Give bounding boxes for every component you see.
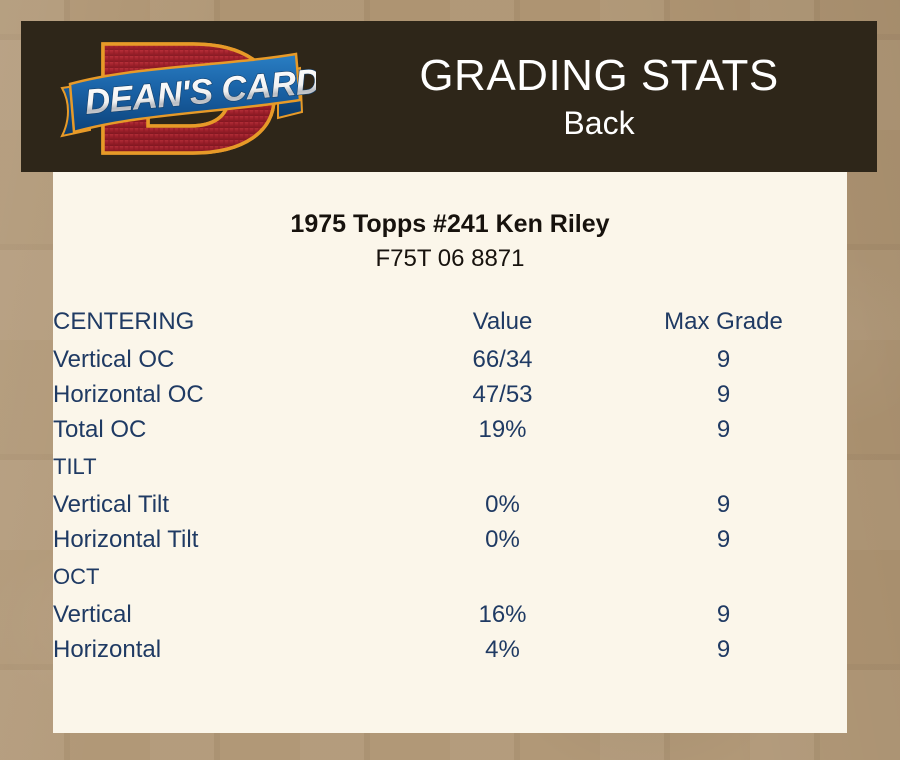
column-header-max-grade: Max Grade — [600, 302, 847, 342]
section-title-oct: OCT — [53, 557, 405, 597]
logo-artwork: DEAN'S CARDS — [48, 26, 316, 171]
deans-cards-logo[interactable]: DEAN'S CARDS — [48, 26, 316, 171]
grading-stats-table: CENTERINGValueMax GradeVertical OC66/349… — [53, 302, 847, 667]
stat-label: Vertical Tilt — [53, 487, 405, 522]
table-row: Horizontal Tilt0%9 — [53, 522, 847, 557]
stat-max-grade: 9 — [600, 597, 847, 632]
stat-label: Total OC — [53, 412, 405, 447]
stat-label: Vertical — [53, 597, 405, 632]
page-subtitle: Back — [563, 103, 634, 143]
card-id: F75T 06 8871 — [53, 244, 847, 274]
header-title-group: GRADING STATS Back — [321, 21, 877, 172]
page-title: GRADING STATS — [419, 51, 778, 101]
stat-max-grade: 9 — [600, 342, 847, 377]
section-spacer-value — [405, 447, 600, 487]
table-row: Vertical16%9 — [53, 597, 847, 632]
stat-value: 0% — [405, 487, 600, 522]
section-header-row: OCT — [53, 557, 847, 597]
stat-max-grade: 9 — [600, 412, 847, 447]
table-row: Vertical OC66/349 — [53, 342, 847, 377]
section-spacer-grade — [600, 557, 847, 597]
table-row: Horizontal4%9 — [53, 632, 847, 667]
section-spacer-grade — [600, 447, 847, 487]
stat-value: 16% — [405, 597, 600, 632]
card-heading: 1975 Topps #241 Ken Riley F75T 06 8871 — [53, 172, 847, 274]
stat-max-grade: 9 — [600, 487, 847, 522]
stat-label: Horizontal — [53, 632, 405, 667]
section-title-tilt: TILT — [53, 447, 405, 487]
header-bar: DEAN'S CARDS GRADING STATS Back — [21, 21, 877, 172]
stat-value: 47/53 — [405, 377, 600, 412]
stat-max-grade: 9 — [600, 522, 847, 557]
stat-max-grade: 9 — [600, 377, 847, 412]
table-row: Vertical Tilt0%9 — [53, 487, 847, 522]
section-title-centering: CENTERING — [53, 302, 405, 342]
stat-label: Horizontal Tilt — [53, 522, 405, 557]
stat-value: 19% — [405, 412, 600, 447]
table-row: Total OC19%9 — [53, 412, 847, 447]
table-row: Horizontal OC47/539 — [53, 377, 847, 412]
card-title: 1975 Topps #241 Ken Riley — [53, 209, 847, 239]
stat-max-grade: 9 — [600, 632, 847, 667]
stat-value: 4% — [405, 632, 600, 667]
stat-label: Horizontal OC — [53, 377, 405, 412]
column-header-value: Value — [405, 302, 600, 342]
section-header-row: CENTERINGValueMax Grade — [53, 302, 847, 342]
section-header-row: TILT — [53, 447, 847, 487]
stats-panel: 1975 Topps #241 Ken Riley F75T 06 8871 C… — [53, 172, 847, 733]
section-spacer-value — [405, 557, 600, 597]
stat-label: Vertical OC — [53, 342, 405, 377]
stat-value: 0% — [405, 522, 600, 557]
stat-value: 66/34 — [405, 342, 600, 377]
